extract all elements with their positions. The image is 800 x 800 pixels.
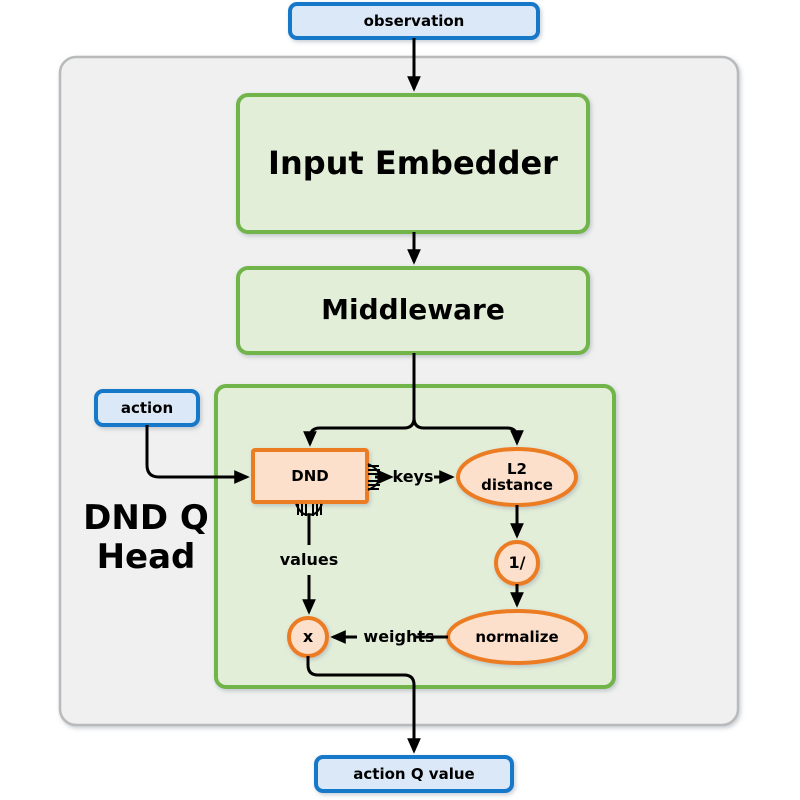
l2-distance-node[interactable] [458,449,576,505]
reciprocal-node[interactable] [496,542,538,584]
normalize-node[interactable] [448,611,586,663]
action-q-value-box[interactable] [316,757,512,791]
action-box[interactable] [96,391,198,425]
dnd-node[interactable] [253,450,367,502]
input-embedder-box[interactable] [238,95,588,232]
observation-box[interactable] [290,4,538,38]
diagram-svg [0,0,800,800]
multiply-node[interactable] [289,618,327,656]
middleware-box[interactable] [238,268,588,353]
diagram-canvas: observation action action Q value Input … [0,0,800,800]
